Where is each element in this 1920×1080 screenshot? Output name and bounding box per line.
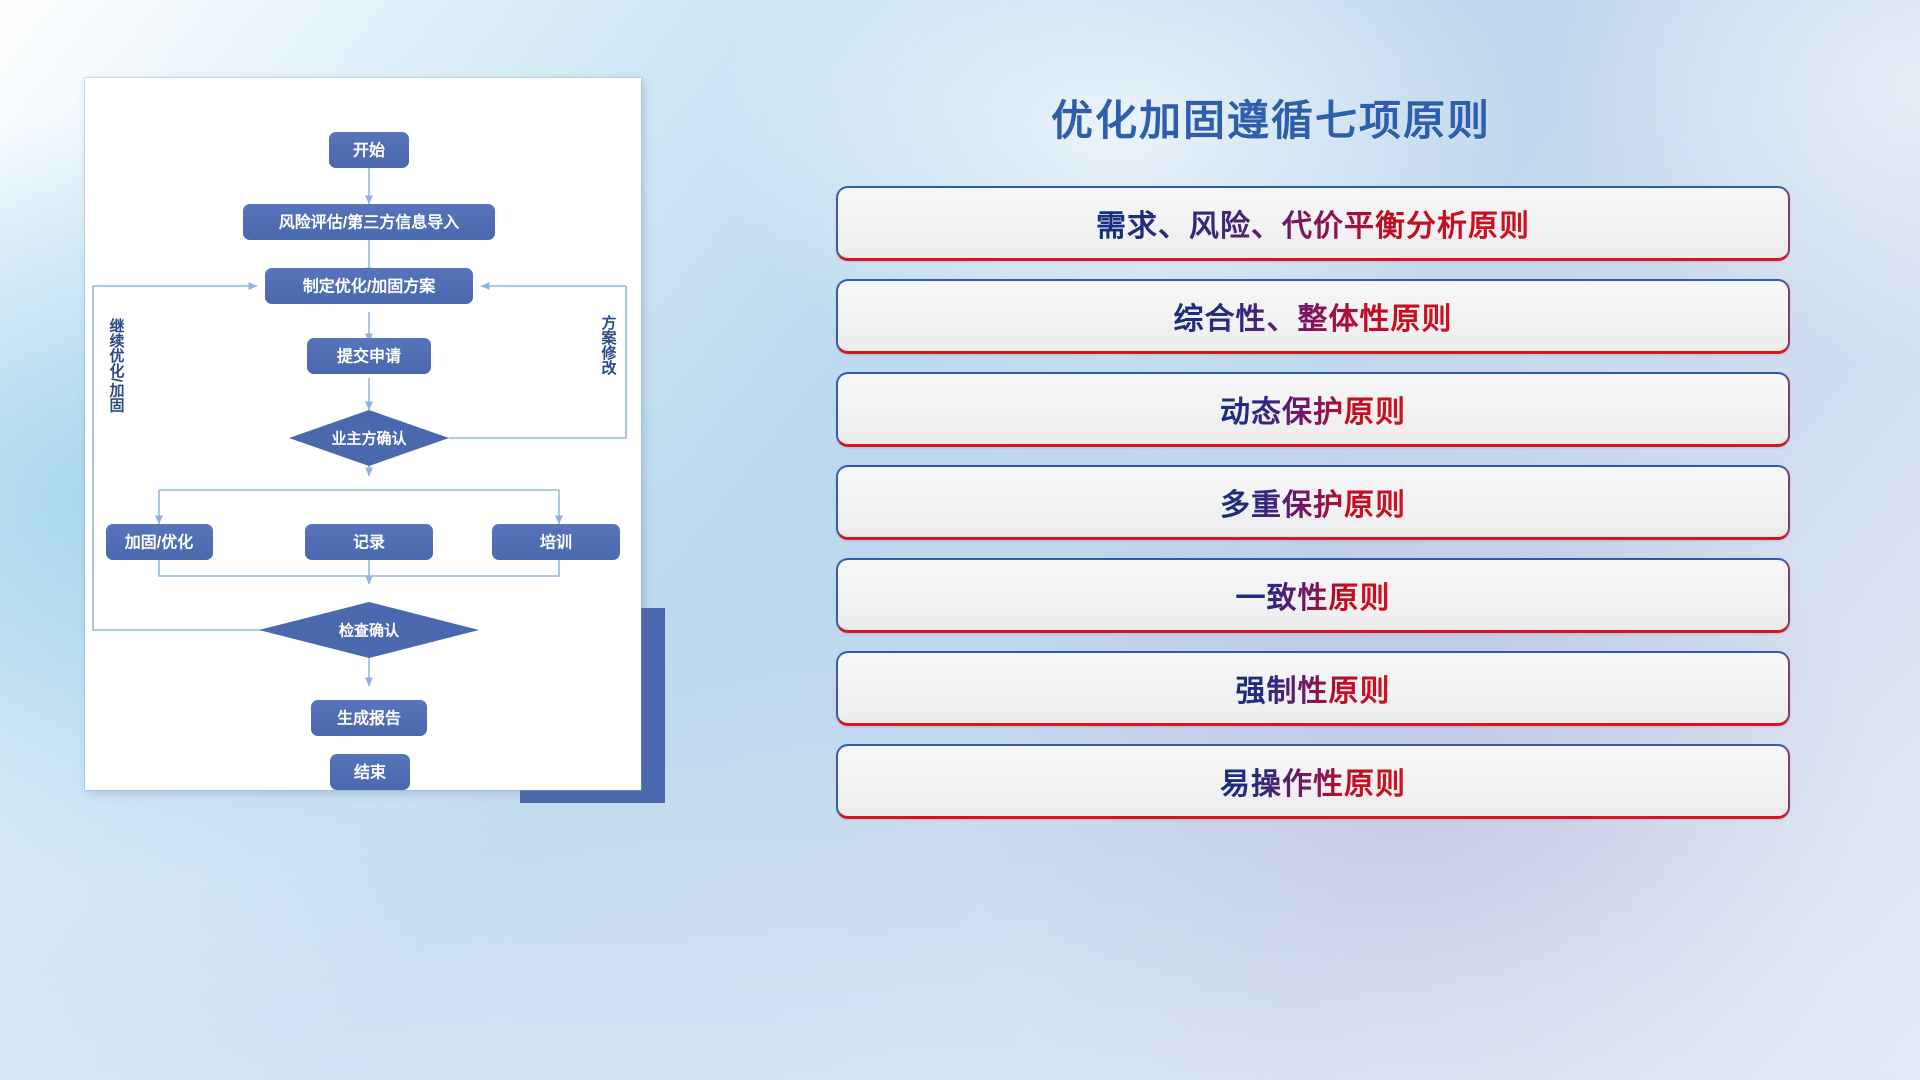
principle-item-3[interactable]: 动态保护原则 xyxy=(836,372,1790,447)
node-label: 生成报告 xyxy=(337,709,401,728)
node-label: 结束 xyxy=(353,763,387,782)
connector-fanout xyxy=(159,490,559,524)
node-label: 开始 xyxy=(353,141,385,160)
node-owner-confirmation[interactable]: 业主方确认 xyxy=(289,410,449,466)
node-label: 检查确认 xyxy=(339,622,400,640)
connector-merge xyxy=(159,560,559,576)
node-training[interactable]: 培训 xyxy=(492,524,620,560)
node-check-confirmation[interactable]: 检查确认 xyxy=(259,602,479,658)
node-label: 提交申请 xyxy=(337,347,401,366)
principle-label: 多重保护原则 xyxy=(1220,480,1406,524)
principle-label: 需求、风险、代价平衡分析原则 xyxy=(1096,201,1530,245)
principles-title: 优化加固遵循七项原则 xyxy=(836,87,1856,148)
principle-label: 综合性、整体性原则 xyxy=(1174,294,1453,338)
node-label: 业主方确认 xyxy=(331,430,407,448)
node-generate-report[interactable]: 生成报告 xyxy=(311,700,427,736)
principles-panel: 优化加固遵循七项原则 需求、风险、代价平衡分析原则 综合性、整体性原则 动态保护… xyxy=(836,60,1856,1060)
node-start[interactable]: 开始 xyxy=(329,132,409,168)
node-reinforce-optimize[interactable]: 加固/优化 xyxy=(106,524,213,560)
principle-label: 动态保护原则 xyxy=(1220,387,1406,431)
edge-label-right-loop: 方案修改 xyxy=(600,314,618,376)
node-submit-application[interactable]: 提交申请 xyxy=(307,338,431,374)
node-risk-assessment[interactable]: 风险评估/第三方信息导入 xyxy=(243,204,495,240)
principle-item-6[interactable]: 强制性原则 xyxy=(836,651,1790,726)
node-end[interactable]: 结束 xyxy=(330,754,410,790)
principle-item-5[interactable]: 一致性原则 xyxy=(836,558,1790,633)
principle-label: 强制性原则 xyxy=(1236,666,1391,710)
node-label: 加固/优化 xyxy=(124,533,193,552)
node-label: 制定优化/加固方案 xyxy=(303,277,436,296)
flowchart-diagram: 开始 风险评估/第三方信息导入 制定优化/加固方案 提交申请 业主方确认 加固/… xyxy=(85,78,641,790)
principle-item-4[interactable]: 多重保护原则 xyxy=(836,465,1790,540)
node-plan[interactable]: 制定优化/加固方案 xyxy=(265,268,473,304)
principle-label: 易操作性原则 xyxy=(1220,759,1406,803)
principle-item-7[interactable]: 易操作性原则 xyxy=(836,744,1790,819)
principle-label: 一致性原则 xyxy=(1236,573,1391,617)
node-record[interactable]: 记录 xyxy=(305,524,433,560)
node-label: 培训 xyxy=(540,533,572,552)
edge-label-left-loop: 继续优化/加固 xyxy=(108,317,126,413)
principle-item-2[interactable]: 综合性、整体性原则 xyxy=(836,279,1790,354)
node-label: 风险评估/第三方信息导入 xyxy=(279,213,459,232)
principle-item-1[interactable]: 需求、风险、代价平衡分析原则 xyxy=(836,186,1790,261)
principles-list: 需求、风险、代价平衡分析原则 综合性、整体性原则 动态保护原则 多重保护原则 一… xyxy=(836,186,1856,819)
node-label: 记录 xyxy=(353,534,385,552)
